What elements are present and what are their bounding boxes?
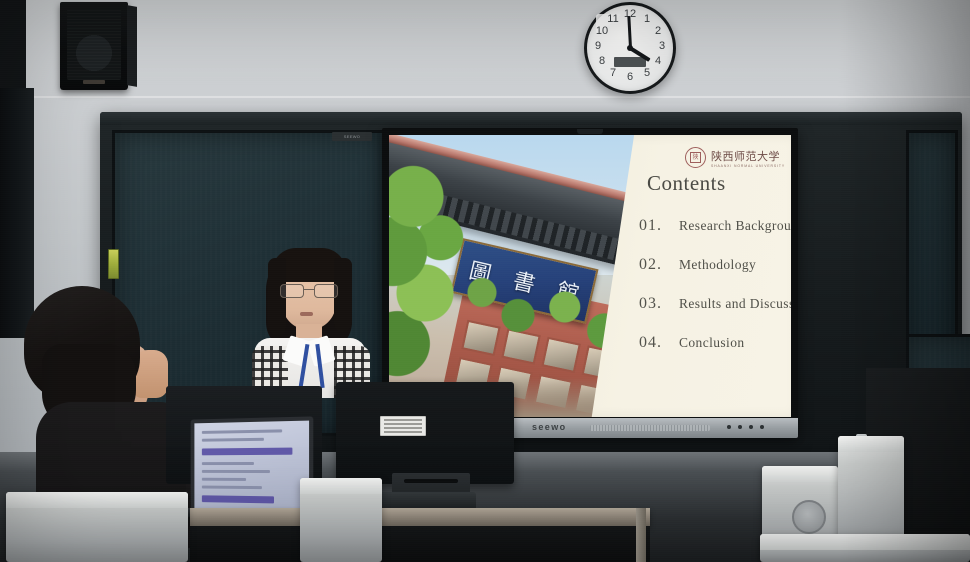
university-name-en: SHAANXI NORMAL UNIVERSITY — [711, 164, 785, 168]
clock-numeral: 10 — [595, 25, 609, 37]
monitor-stand-slot — [404, 479, 458, 483]
clock-numeral: 6 — [623, 71, 637, 83]
display-screen[interactable]: 圖 書 館 陕 陕西师范大学 SHAANXI NORMAL UNIVERSITY — [389, 135, 791, 417]
open-laptop[interactable] — [191, 416, 314, 519]
presenter-mouth — [300, 312, 313, 316]
table-of-contents: 01. Research Background 02. Methodology … — [639, 217, 791, 373]
toc-label: Research Background — [679, 218, 791, 234]
toc-label: Conclusion — [679, 335, 745, 351]
wall-seam — [0, 96, 970, 98]
wall-speaker — [60, 2, 128, 90]
wall-shadow — [840, 0, 970, 562]
camera-icon — [577, 129, 603, 134]
display-control-buttons[interactable] — [727, 425, 764, 429]
clock-numeral: 4 — [651, 55, 665, 67]
clock-numeral: 2 — [651, 25, 665, 37]
monitor-asset-label — [380, 416, 426, 436]
classroom-scene: 12 1 2 3 4 5 6 7 8 9 10 11 SEEWO — [0, 0, 970, 562]
toc-item: 02. Methodology — [639, 256, 791, 274]
display-button[interactable] — [738, 425, 742, 429]
university-logo: 陕 陕西师范大学 SHAANXI NORMAL UNIVERSITY — [685, 147, 785, 168]
toc-item: 04. Conclusion — [639, 334, 791, 352]
speaker-grill-icon — [67, 9, 121, 80]
blackboard-brand-tag: SEEWO — [332, 132, 372, 141]
university-seal-icon: 陕 — [685, 147, 706, 168]
clock-center-pin — [627, 45, 633, 51]
desk-surface — [190, 508, 650, 526]
blackboard-top-rail — [100, 112, 962, 125]
tree-foliage — [389, 155, 491, 385]
toc-number: 01. — [639, 217, 679, 235]
clock-numeral: 7 — [606, 67, 620, 79]
speaker-badge — [83, 80, 105, 84]
toc-item: 01. Research Background — [639, 217, 791, 235]
wall-clock: 12 1 2 3 4 5 6 7 8 9 10 11 — [584, 2, 676, 94]
display-button[interactable] — [749, 425, 753, 429]
computer-tower — [6, 492, 188, 562]
toc-item: 03. Results and Discussion — [639, 295, 791, 313]
clock-numeral: 8 — [595, 55, 609, 67]
display-brand-label: seewo — [532, 422, 567, 432]
toc-label: Results and Discussion — [679, 296, 791, 312]
clock-numeral: 3 — [655, 40, 669, 52]
university-name-cn: 陕西师范大学 — [711, 148, 785, 164]
left-wall-panel-top — [0, 0, 26, 92]
computer-tower — [300, 478, 382, 562]
desktop-monitor-rear — [336, 382, 514, 484]
toc-number: 03. — [639, 295, 679, 313]
display-button[interactable] — [727, 425, 731, 429]
machine-dial-icon — [792, 500, 826, 534]
clock-brand-plate — [614, 57, 646, 67]
student-presenter — [246, 246, 376, 396]
slide-title: Contents — [647, 171, 726, 196]
display-button[interactable] — [760, 425, 764, 429]
toc-label: Methodology — [679, 257, 756, 273]
clock-numeral: 11 — [606, 13, 620, 25]
clock-numeral: 5 — [640, 67, 654, 79]
desk-leg — [636, 508, 646, 562]
equipment-sticker — [108, 249, 119, 279]
clock-minute-hand — [627, 16, 632, 48]
toc-number: 02. — [639, 256, 679, 274]
clock-numeral: 1 — [640, 13, 654, 25]
clock-numeral: 9 — [591, 40, 605, 52]
glasses-icon — [280, 284, 338, 296]
desk-underside — [190, 526, 650, 562]
toc-number: 04. — [639, 334, 679, 352]
seal-char: 陕 — [690, 152, 701, 163]
display-speaker-grill-icon — [590, 425, 710, 431]
